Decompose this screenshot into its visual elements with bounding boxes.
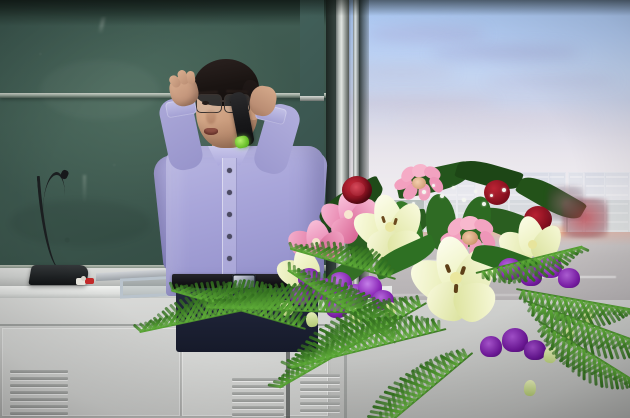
nose xyxy=(206,110,216,124)
cable-connectors xyxy=(76,276,98,286)
shirt-placket xyxy=(222,158,237,290)
chalk-mark xyxy=(83,175,86,203)
chalk-smudge xyxy=(40,60,160,120)
cloud xyxy=(366,26,486,42)
glasses-bridge xyxy=(220,100,226,102)
mouth xyxy=(204,128,218,135)
chalk-smudge xyxy=(10,200,150,246)
shirt-button xyxy=(227,190,232,195)
cloud xyxy=(486,74,616,87)
shirt-button xyxy=(227,234,232,239)
photograph xyxy=(0,0,630,418)
chalkboard-top-shadow xyxy=(0,0,336,26)
floral-arrangement xyxy=(276,150,630,418)
shirt-button xyxy=(227,168,232,173)
eye xyxy=(202,101,209,105)
red-rose xyxy=(484,180,510,205)
filler-flowers xyxy=(548,186,584,220)
palm-frond xyxy=(356,350,473,418)
red-rose-center xyxy=(350,182,365,196)
shirt-button xyxy=(227,256,232,261)
pink-gerbera xyxy=(394,164,444,204)
shirt-button xyxy=(227,212,232,217)
cabinet-vent xyxy=(10,370,68,418)
cloud xyxy=(431,46,581,60)
